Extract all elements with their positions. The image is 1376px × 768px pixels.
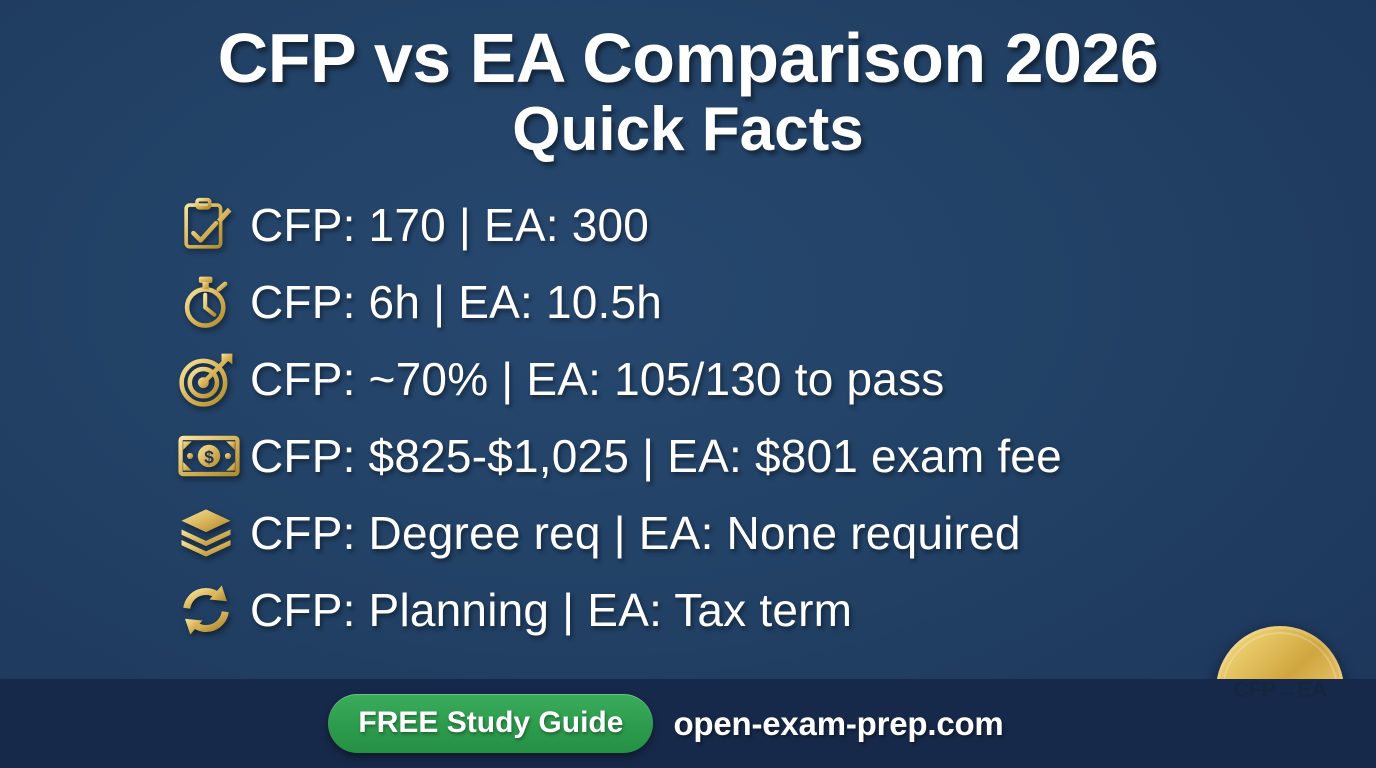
list-item-label: CFP: Planning | EA: Tax term: [250, 583, 852, 637]
footer-bar: FREE Study Guide open-exam-prep.com: [0, 679, 1376, 768]
list-item: CFP: 170 | EA: 300: [178, 186, 1336, 263]
stopwatch-icon: [178, 271, 250, 333]
footer-content: FREE Study Guide open-exam-prep.com: [328, 694, 1003, 753]
stacked-books-icon: [178, 502, 250, 564]
list-item-label: CFP: Degree req | EA: None required: [250, 506, 1021, 560]
free-study-guide-button[interactable]: FREE Study Guide: [328, 694, 653, 753]
refresh-sync-icon: [178, 579, 250, 641]
list-item-label: CFP: 6h | EA: 10.5h: [250, 275, 662, 329]
site-url-label: open-exam-prep.com: [673, 705, 1003, 743]
title-line-primary: CFP vs EA Comparison 2026: [40, 22, 1336, 95]
poster-canvas: CFP vs EA Comparison 2026 Quick Facts: [0, 0, 1376, 768]
list-item: CFP: 6h | EA: 10.5h: [178, 263, 1336, 340]
banknote-dollar-icon: $: [178, 425, 250, 487]
page-title: CFP vs EA Comparison 2026 Quick Facts: [0, 22, 1376, 163]
target-arrow-icon: [178, 348, 250, 410]
list-item: $ CFP: $825-$1,025 | EA: $801 exam fee: [178, 417, 1336, 494]
badge-label: CFP↔EA: [1233, 677, 1327, 703]
list-item: CFP: Degree req | EA: None required: [178, 494, 1336, 571]
svg-text:$: $: [204, 446, 214, 466]
facts-list: CFP: 170 | EA: 300: [178, 186, 1336, 648]
list-item-label: CFP: ~70% | EA: 105/130 to pass: [250, 352, 945, 406]
list-item: CFP: Planning | EA: Tax term: [178, 571, 1336, 648]
list-item-label: CFP: $825-$1,025 | EA: $801 exam fee: [250, 429, 1062, 483]
clipboard-check-icon: [178, 194, 250, 256]
list-item: CFP: ~70% | EA: 105/130 to pass: [178, 340, 1336, 417]
title-line-secondary: Quick Facts: [40, 97, 1336, 163]
list-item-label: CFP: 170 | EA: 300: [250, 198, 649, 252]
